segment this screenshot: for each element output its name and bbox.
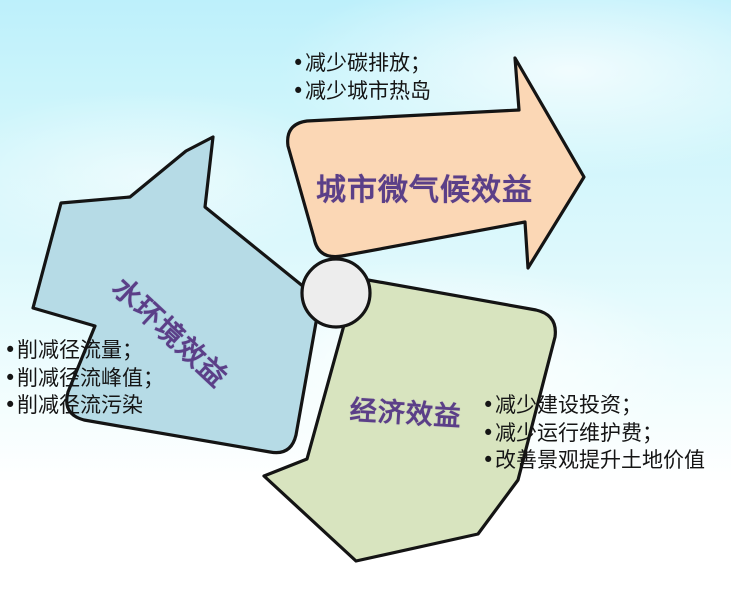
bullet-icon: •: [482, 392, 495, 420]
bullet-icon: •: [292, 50, 305, 78]
list-item: •减少城市热岛: [292, 78, 431, 106]
list-item-label: 减少运行维护费；: [495, 421, 663, 445]
bullet-icon: •: [482, 447, 495, 475]
bullet-icon: •: [4, 365, 17, 393]
center-hub-circle[interactable]: [302, 259, 370, 327]
diagram-canvas: 城市微气候效益 水环境效益 经济效益 •减少碳排放； •减少城市热岛 •削减径流…: [0, 0, 731, 589]
bullet-icon: •: [4, 337, 17, 365]
list-item-label: 减少建设投资；: [495, 393, 642, 417]
bullet-list-micro-climate: •减少碳排放； •减少城市热岛: [292, 50, 431, 105]
list-item-label: 削减径流峰值；: [17, 366, 164, 390]
list-item: •减少运行维护费；: [482, 420, 705, 448]
list-item: •减少碳排放；: [292, 50, 431, 78]
list-item-label: 减少碳排放；: [305, 51, 431, 75]
bullet-list-water-environment: •削减径流量； •削减径流峰值； •削减径流污染: [4, 337, 164, 420]
bullet-icon: •: [4, 392, 17, 420]
bullet-icon: •: [482, 420, 495, 448]
arrow-label-economic: 经济效益: [349, 388, 463, 434]
bullet-list-economic: •减少建设投资； •减少运行维护费； •改善景观提升土地价值: [482, 392, 705, 475]
list-item-label: 改善景观提升土地价值: [495, 448, 705, 472]
bullet-icon: •: [292, 78, 305, 106]
list-item: •削减径流污染: [4, 392, 164, 420]
list-item: •减少建设投资；: [482, 392, 705, 420]
list-item: •削减径流量；: [4, 337, 164, 365]
list-item: •削减径流峰值；: [4, 365, 164, 393]
list-item-label: 减少城市热岛: [305, 79, 431, 103]
list-item-label: 削减径流量；: [17, 338, 143, 362]
arrow-label-micro-climate: 城市微气候效益: [316, 165, 533, 209]
list-item-label: 削减径流污染: [17, 393, 143, 417]
list-item: •改善景观提升土地价值: [482, 447, 705, 475]
